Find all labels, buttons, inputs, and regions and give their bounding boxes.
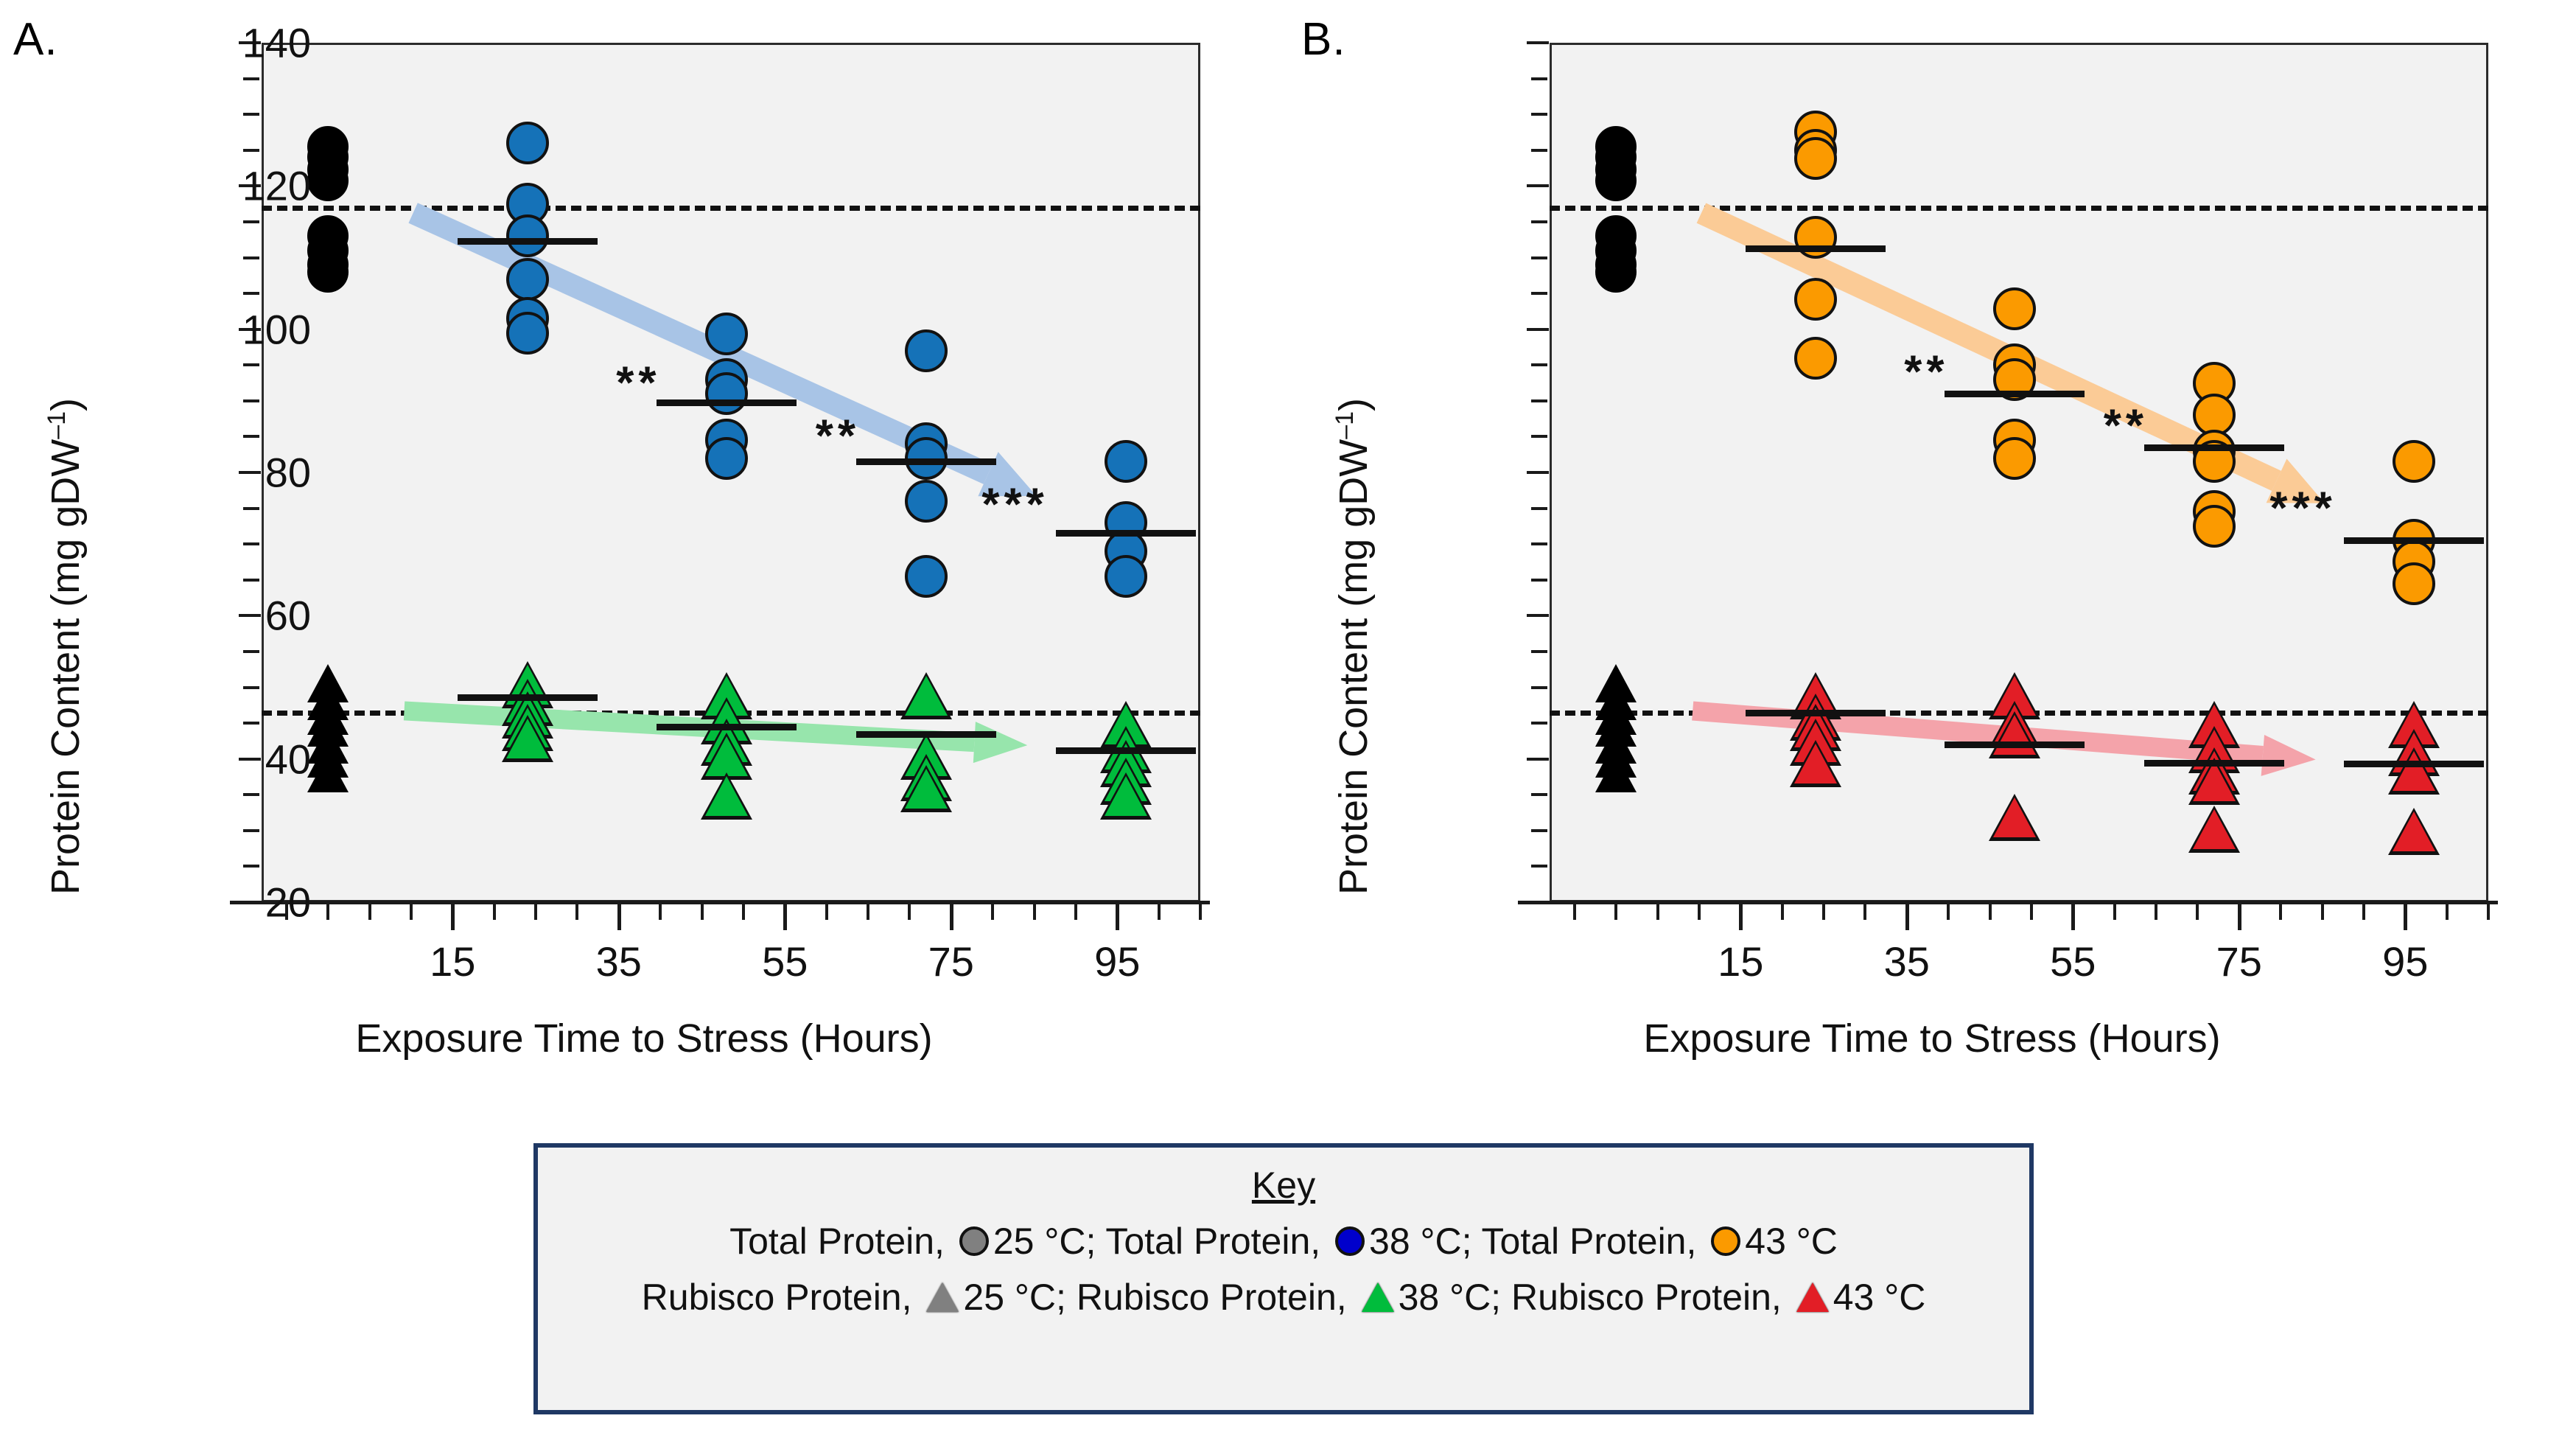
- data-point-triangle: [2193, 809, 2236, 849]
- x-tick-minor: [991, 901, 994, 920]
- data-point-circle: [1993, 437, 2036, 480]
- y-tick-major: [1527, 41, 1549, 44]
- x-tick-major: [1739, 901, 1743, 930]
- y-axis-title: Protein Content (mg gDW–1): [1331, 398, 1376, 895]
- y-tick-major: [1527, 614, 1549, 617]
- mean-bar: [458, 238, 598, 245]
- x-tick-minor: [1074, 901, 1077, 920]
- y-tick-minor: [243, 256, 259, 259]
- x-tick-minor: [2487, 901, 2490, 920]
- panel-b-letter: B.: [1301, 13, 1346, 66]
- mean-bar: [2144, 444, 2284, 451]
- significance-marker: ***: [981, 478, 1048, 531]
- x-tick-minor: [825, 901, 828, 920]
- data-point-triangle: [2393, 812, 2435, 851]
- x-axis-tick-label: 55: [2006, 938, 2139, 985]
- mean-bar: [458, 694, 598, 701]
- y-tick-minor: [1531, 579, 1547, 582]
- x-tick-minor: [2362, 901, 2365, 920]
- x-tick-minor: [1989, 901, 1992, 920]
- significance-marker: **: [816, 411, 860, 463]
- panel-b-x-axis: [1518, 901, 2498, 904]
- data-point-circle: [506, 214, 549, 257]
- data-point-circle: [1993, 287, 2036, 330]
- data-point-circle: [1794, 337, 1837, 380]
- panel-a-x-axis-title: Exposure Time to Stress (Hours): [0, 1016, 1288, 1061]
- y-tick-major: [1527, 758, 1549, 761]
- legend-triangle-icon: [1362, 1282, 1394, 1312]
- y-tick-minor: [1531, 292, 1547, 295]
- data-point-triangle: [1993, 797, 2036, 837]
- data-point-circle: [705, 372, 748, 415]
- x-tick-minor: [2155, 901, 2157, 920]
- legend-row-total-protein: Total Protein, 25 °C; Total Protein, 38 …: [538, 1220, 2029, 1263]
- data-point-circle: [905, 329, 948, 372]
- x-tick-minor: [1158, 901, 1161, 920]
- y-tick-minor: [243, 542, 259, 545]
- x-tick-major: [617, 901, 621, 930]
- y-axis-tick-label: 20: [127, 879, 311, 926]
- x-axis-tick-label: 75: [2173, 938, 2306, 985]
- mean-bar: [1945, 391, 2085, 397]
- mean-bar: [856, 458, 996, 465]
- x-tick-major: [783, 901, 787, 930]
- y-tick-minor: [243, 399, 259, 402]
- y-tick-minor: [1531, 220, 1547, 223]
- mean-bar: [657, 724, 797, 730]
- y-tick-minor: [243, 650, 259, 653]
- legend-key-box: Key Total Protein, 25 °C; Total Protein,…: [533, 1143, 2034, 1414]
- x-tick-minor: [659, 901, 662, 920]
- arrow-head: [973, 721, 1028, 765]
- y-tick-minor: [1531, 113, 1547, 116]
- data-point-circle: [506, 312, 549, 355]
- y-tick-minor: [1531, 722, 1547, 725]
- x-tick-major: [2404, 901, 2407, 930]
- significance-marker: **: [616, 357, 660, 409]
- legend-label-before: Total Protein,: [1472, 1221, 1707, 1262]
- x-axis-tick-label: 15: [386, 938, 519, 985]
- x-tick-minor: [1822, 901, 1825, 920]
- data-point-circle: [2393, 440, 2435, 483]
- data-point-circle: [506, 258, 549, 301]
- x-tick-minor: [2446, 901, 2449, 920]
- x-tick-minor: [908, 901, 911, 920]
- y-tick-minor: [243, 363, 259, 366]
- legend-triangle-icon: [1796, 1282, 1829, 1312]
- x-tick-minor: [2030, 901, 2033, 920]
- x-tick-minor: [1656, 901, 1659, 920]
- legend-label-after: 25 °C;: [963, 1277, 1066, 1318]
- y-tick-major: [1527, 184, 1549, 187]
- y-tick-minor: [1531, 363, 1547, 366]
- mean-bar: [1945, 741, 2085, 748]
- legend-label-before: Rubisco Protein,: [1066, 1277, 1357, 1318]
- mean-bar: [1746, 245, 1886, 252]
- data-point-circle-control: [307, 251, 349, 293]
- y-tick-minor: [243, 113, 259, 116]
- y-axis-tick-label: 60: [127, 592, 311, 640]
- panel-b: B. 20406080100120140 Exposure Time to St…: [1288, 0, 2576, 1106]
- y-tick-minor: [243, 793, 259, 796]
- mean-bar: [2344, 761, 2484, 767]
- data-point-triangle: [2193, 761, 2236, 801]
- y-tick-minor: [1531, 149, 1547, 152]
- y-tick-minor: [1531, 507, 1547, 510]
- legend-label-after: 38 °C;: [1369, 1221, 1472, 1262]
- legend-label-before: Rubisco Protein,: [642, 1277, 923, 1318]
- x-tick-major: [950, 901, 953, 930]
- mean-bar: [1056, 747, 1196, 754]
- data-point-circle-control: [1595, 160, 1637, 201]
- legend-circle-icon: [1335, 1226, 1365, 1256]
- y-tick-minor: [243, 292, 259, 295]
- y-tick-minor: [1531, 77, 1547, 80]
- x-tick-minor: [1614, 901, 1617, 920]
- data-point-triangle: [705, 736, 748, 776]
- y-axis-tick-label: 80: [127, 449, 311, 497]
- x-tick-major: [2071, 901, 2075, 930]
- y-tick-minor: [1531, 865, 1547, 868]
- data-point-circle: [1794, 137, 1837, 180]
- y-tick-minor: [243, 579, 259, 582]
- data-point-triangle: [905, 676, 948, 716]
- panel-a-letter: A.: [13, 13, 58, 66]
- data-point-circle: [1105, 440, 1147, 483]
- y-tick-major: [1527, 471, 1549, 474]
- data-point-triangle: [1993, 715, 2036, 755]
- data-point-circle: [506, 122, 549, 164]
- data-point-circle: [705, 313, 748, 355]
- reference-line-total-protein-control: [262, 206, 1200, 211]
- significance-marker: ***: [2269, 482, 2336, 534]
- y-tick-minor: [1531, 829, 1547, 832]
- y-tick-minor: [243, 220, 259, 223]
- y-axis-tick-label: 120: [127, 162, 311, 210]
- x-tick-minor: [1033, 901, 1036, 920]
- mean-bar: [657, 399, 797, 406]
- y-tick-minor: [1531, 793, 1547, 796]
- data-point-circle: [905, 480, 948, 523]
- x-tick-minor: [2279, 901, 2282, 920]
- legend-label-before: Rubisco Protein,: [1501, 1277, 1792, 1318]
- y-tick-minor: [1531, 686, 1547, 689]
- x-axis-tick-label: 35: [1841, 938, 1973, 985]
- panel-a-x-axis: [230, 901, 1210, 904]
- y-tick-minor: [243, 149, 259, 152]
- x-tick-minor: [2113, 901, 2116, 920]
- data-point-circle: [1794, 278, 1837, 321]
- y-tick-major: [1527, 328, 1549, 331]
- arrow-head: [2261, 734, 2317, 779]
- x-tick-minor: [534, 901, 537, 920]
- panel-b-x-axis-title: Exposure Time to Stress (Hours): [1288, 1016, 2576, 1061]
- y-tick-minor: [243, 722, 259, 725]
- x-tick-minor: [1573, 901, 1576, 920]
- x-tick-major: [451, 901, 455, 930]
- x-tick-major: [2238, 901, 2241, 930]
- data-point-triangle: [1794, 744, 1837, 783]
- x-tick-minor: [867, 901, 869, 920]
- legend-triangle-icon: [926, 1282, 959, 1312]
- y-tick-minor: [243, 435, 259, 438]
- data-point-circle: [2393, 562, 2435, 605]
- x-tick-minor: [2196, 901, 2199, 920]
- data-point-circle-control: [1595, 251, 1637, 293]
- y-axis-title: Protein Content (mg gDW–1): [43, 398, 88, 895]
- legend-title: Key: [538, 1164, 2029, 1207]
- x-tick-major: [1116, 901, 1119, 930]
- mean-bar: [1746, 710, 1886, 716]
- x-axis-tick-label: 75: [885, 938, 1018, 985]
- legend-label-before: Total Protein,: [729, 1221, 955, 1262]
- data-point-triangle: [905, 769, 948, 809]
- data-point-circle: [905, 555, 948, 598]
- legend-label-after: 38 °C;: [1399, 1277, 1502, 1318]
- legend-label-after: 43 °C: [1833, 1277, 1926, 1318]
- x-tick-minor: [1781, 901, 1784, 920]
- data-point-circle: [1794, 216, 1837, 259]
- legend-row-rubisco-protein: Rubisco Protein, 25 °C; Rubisco Protein,…: [538, 1276, 2029, 1319]
- panel-b-y-axis: 20406080100120140: [1546, 43, 1550, 902]
- y-tick-minor: [243, 865, 259, 868]
- y-axis-tick-label: 100: [127, 305, 311, 353]
- x-axis-tick-label: 95: [1051, 938, 1183, 985]
- x-tick-minor: [493, 901, 496, 920]
- significance-marker: **: [1904, 346, 1948, 398]
- x-axis-tick-label: 15: [1674, 938, 1807, 985]
- reference-line-total-protein-control: [1550, 206, 2488, 211]
- x-tick-minor: [1698, 901, 1701, 920]
- x-tick-minor: [742, 901, 745, 920]
- x-tick-minor: [410, 901, 413, 920]
- x-tick-major: [1905, 901, 1909, 930]
- y-tick-minor: [1531, 256, 1547, 259]
- legend-circle-icon: [1711, 1226, 1740, 1256]
- x-axis-tick-label: 55: [718, 938, 851, 985]
- mean-bar: [2344, 537, 2484, 544]
- x-tick-minor: [326, 901, 329, 920]
- significance-marker: **: [2104, 399, 2148, 452]
- y-tick-minor: [243, 77, 259, 80]
- data-point-circle: [705, 437, 748, 480]
- data-point-triangle-control: [307, 754, 349, 792]
- x-tick-minor: [2321, 901, 2324, 920]
- data-point-triangle-control: [1595, 754, 1637, 792]
- y-tick-minor: [1531, 399, 1547, 402]
- y-tick-minor: [1531, 435, 1547, 438]
- data-point-circle: [2193, 505, 2236, 548]
- data-point-triangle: [1105, 776, 1147, 816]
- y-tick-minor: [1531, 650, 1547, 653]
- legend-label-after: 25 °C;: [993, 1221, 1096, 1262]
- x-tick-minor: [1947, 901, 1950, 920]
- y-tick-minor: [1531, 542, 1547, 545]
- mean-bar: [1056, 530, 1196, 537]
- y-axis-tick-label: 140: [127, 19, 311, 67]
- y-tick-minor: [243, 829, 259, 832]
- data-point-triangle: [705, 776, 748, 816]
- x-tick-minor: [1199, 901, 1202, 920]
- x-tick-minor: [575, 901, 578, 920]
- data-point-triangle: [506, 719, 549, 758]
- mean-bar: [2144, 760, 2284, 767]
- x-axis-tick-label: 95: [2339, 938, 2471, 985]
- legend-label-after: 43 °C: [1745, 1221, 1838, 1262]
- mean-bar: [856, 731, 996, 738]
- x-tick-minor: [1863, 901, 1866, 920]
- y-axis-tick-label: 40: [127, 735, 311, 783]
- data-point-triangle: [2393, 751, 2435, 791]
- data-point-circle-control: [307, 160, 349, 201]
- x-axis-tick-label: 35: [553, 938, 685, 985]
- x-tick-minor: [701, 901, 704, 920]
- legend-circle-icon: [959, 1226, 989, 1256]
- x-tick-minor: [368, 901, 371, 920]
- y-tick-minor: [243, 507, 259, 510]
- legend-label-before: Total Protein,: [1096, 1221, 1331, 1262]
- data-point-circle: [1105, 555, 1147, 598]
- y-tick-minor: [243, 686, 259, 689]
